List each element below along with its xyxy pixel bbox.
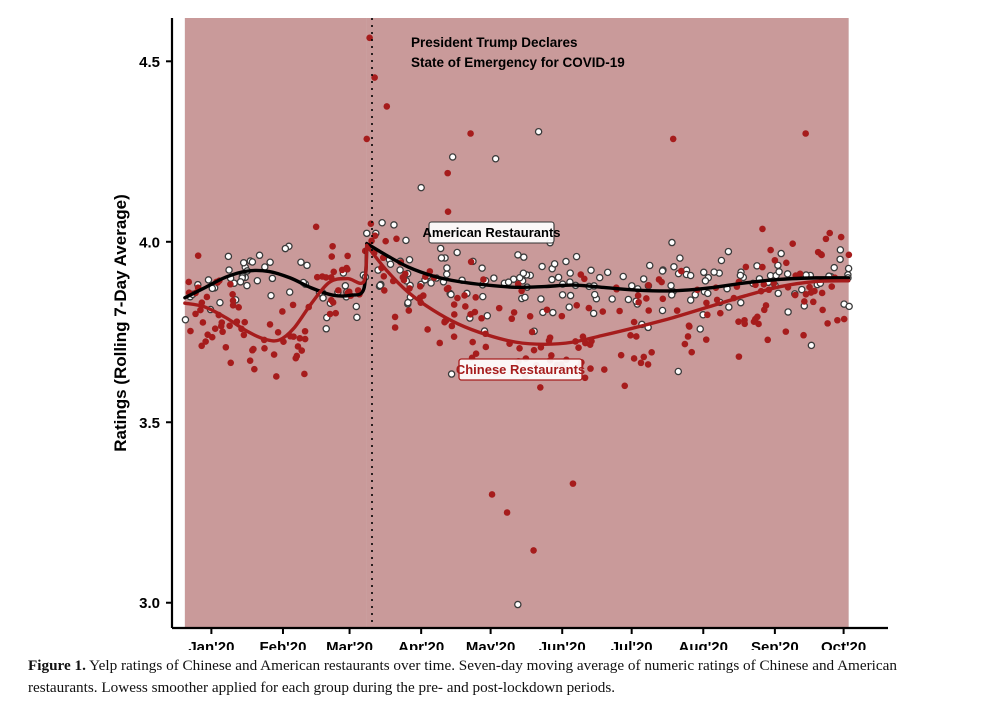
american-data-point (323, 326, 329, 332)
chinese-data-point (451, 311, 458, 318)
chinese-data-point (633, 333, 640, 340)
chinese-data-point (330, 268, 337, 275)
chinese-data-point (381, 273, 388, 280)
american-data-point (659, 268, 665, 274)
chinese-data-point (227, 281, 234, 288)
american-series-label: American Restaurants (423, 222, 561, 243)
american-data-point (364, 230, 370, 236)
chinese-data-point (575, 344, 582, 351)
american-data-point (522, 294, 528, 300)
x-tick-label: Aug'20 (679, 639, 728, 650)
american-data-point (647, 262, 653, 268)
american-data-point (448, 291, 454, 297)
chinese-data-point (828, 283, 835, 290)
chinese-data-point (759, 264, 766, 271)
american-data-point (659, 307, 665, 313)
american-data-point (256, 252, 262, 258)
american-data-point (269, 275, 275, 281)
figure-container: 3.03.54.04.5 Jan'20Feb'20Mar'20Apr'20May… (0, 0, 986, 719)
chinese-data-point (200, 319, 207, 326)
american-data-point (785, 309, 791, 315)
american-data-point (226, 267, 232, 273)
american-data-point (668, 283, 674, 289)
chinese-data-point (472, 294, 479, 301)
chinese-data-point (751, 318, 758, 325)
american-data-point (726, 304, 732, 310)
american-data-point (775, 290, 781, 296)
chinese-data-point (335, 287, 342, 294)
chinese-data-point (230, 297, 237, 304)
chinese-data-point (616, 308, 623, 315)
american-data-point (552, 261, 558, 267)
chinese-data-point (656, 276, 663, 283)
chinese-data-point (504, 509, 511, 516)
chinese-data-point (601, 366, 608, 373)
chinese-data-point (406, 307, 413, 314)
american-data-point (304, 262, 310, 268)
american-data-point (391, 222, 397, 228)
american-data-point (776, 269, 782, 275)
american-data-point (675, 368, 681, 374)
american-data-point (405, 300, 411, 306)
american-data-point (254, 278, 260, 284)
chinese-data-point (648, 349, 655, 356)
american-data-point (671, 264, 677, 270)
american-data-point (737, 272, 743, 278)
chinese-data-point (581, 275, 588, 282)
american-data-point (287, 289, 293, 295)
american-data-point (406, 257, 412, 263)
chinese-data-point (478, 315, 485, 322)
american-data-point (397, 267, 403, 273)
american-data-point (597, 275, 603, 281)
american-data-point (605, 269, 611, 275)
chinese-data-point (674, 307, 681, 314)
chinese-data-point (783, 260, 790, 267)
chinese-data-point (187, 328, 194, 335)
x-tick-label: Jul'20 (611, 639, 653, 650)
american-data-point (535, 129, 541, 135)
chinese-data-point (640, 354, 647, 361)
american-data-point (754, 263, 760, 269)
chinese-data-point (392, 314, 399, 321)
y-axis-ticks: 3.03.54.04.5 (139, 54, 172, 612)
chinese-data-point (800, 332, 807, 339)
chinese-data-point (548, 352, 555, 359)
chinese-label-text: Chinese Restaurants (456, 362, 585, 377)
x-tick-label: Jan'20 (188, 639, 234, 650)
chinese-data-point (267, 321, 274, 328)
chinese-data-point (508, 315, 515, 322)
chinese-data-point (247, 357, 254, 364)
american-data-point (550, 309, 556, 315)
chinese-data-point (802, 130, 809, 137)
american-data-point (249, 259, 255, 265)
chinese-data-point (294, 353, 301, 360)
chinese-data-point (736, 353, 743, 360)
american-data-point (711, 269, 717, 275)
american-data-point (846, 303, 852, 309)
confidence-bands (185, 0, 849, 650)
american-data-point (444, 271, 450, 277)
chart-canvas: 3.03.54.04.5 Jan'20Feb'20Mar'20Apr'20May… (0, 0, 986, 650)
chinese-data-point (537, 384, 544, 391)
american-data-point (428, 280, 434, 286)
chinese-data-point (381, 287, 388, 294)
y-axis-title: Ratings (Rolling 7-Day Average) (111, 194, 130, 452)
chinese-data-point (678, 268, 685, 275)
chinese-data-point (483, 344, 490, 351)
american-data-point (480, 294, 486, 300)
chinese-data-point (319, 273, 326, 280)
american-data-point (449, 371, 455, 377)
american-data-point (725, 248, 731, 254)
chinese-data-point (451, 301, 458, 308)
chinese-data-point (841, 316, 848, 323)
american-data-point (592, 292, 598, 298)
chinese-data-point (621, 382, 628, 389)
american-data-point (505, 279, 511, 285)
american-data-point (718, 257, 724, 263)
american-data-point (539, 263, 545, 269)
chinese-data-point (797, 270, 804, 277)
chinese-data-point (763, 302, 770, 309)
american-data-point (217, 300, 223, 306)
american-data-point (591, 310, 597, 316)
chinese-data-point (824, 320, 831, 327)
chinese-data-point (462, 303, 469, 310)
american-data-point (225, 253, 231, 259)
chinese-data-point (529, 329, 536, 336)
chinese-data-point (392, 324, 399, 331)
chinese-data-point (792, 292, 799, 299)
chinese-data-point (424, 326, 431, 333)
american-data-point (566, 304, 572, 310)
american-data-point (702, 278, 708, 284)
american-data-point (620, 273, 626, 279)
chinese-data-point (250, 346, 257, 353)
american-data-point (563, 258, 569, 264)
chinese-data-point (789, 240, 796, 247)
chinese-data-point (717, 310, 724, 317)
chinese-data-point (635, 292, 642, 299)
figure-caption: Figure 1. Yelp ratings of Chinese and Am… (28, 655, 958, 699)
chinese-data-point (204, 331, 211, 338)
chinese-data-point (527, 313, 534, 320)
american-data-point (549, 276, 555, 282)
chinese-data-point (298, 347, 305, 354)
chinese-data-point (480, 276, 487, 283)
american-data-point (609, 296, 615, 302)
chinese-data-point (643, 295, 650, 302)
chinese-data-point (823, 236, 830, 243)
confidence-band (185, 0, 367, 650)
chinese-data-point (384, 103, 391, 110)
x-axis-ticks: Jan'20Feb'20Mar'20Apr'20May'20Jun'20Jul'… (188, 628, 866, 650)
american-data-point (418, 185, 424, 191)
american-data-point (688, 272, 694, 278)
chinese-data-point (461, 292, 468, 299)
american-data-point (244, 282, 250, 288)
x-tick-label: Feb'20 (260, 639, 307, 650)
american-data-point (493, 156, 499, 162)
caption-body: Yelp ratings of Chinese and American res… (28, 657, 897, 696)
confidence-band (367, 0, 849, 650)
american-data-point (298, 259, 304, 265)
american-data-point (237, 279, 243, 285)
american-data-point (379, 220, 385, 226)
chinese-data-point (764, 337, 771, 344)
chinese-data-point (818, 252, 825, 259)
chinese-data-point (530, 547, 537, 554)
american-label-text: American Restaurants (423, 225, 561, 240)
chinese-data-point (735, 318, 742, 325)
chinese-data-point (631, 319, 638, 326)
chinese-data-point (516, 345, 523, 352)
american-data-point (241, 260, 247, 266)
american-data-point (831, 265, 837, 271)
chinese-data-point (235, 304, 242, 311)
chinese-data-point (218, 323, 225, 330)
x-tick-label: Apr'20 (398, 639, 444, 650)
chinese-data-point (660, 296, 667, 303)
chinese-data-point (783, 328, 790, 335)
american-data-point (573, 254, 579, 260)
chinese-data-point (420, 292, 427, 299)
chinese-data-point (290, 302, 297, 309)
event-annotation-line2: State of Emergency for COVID-19 (411, 55, 625, 70)
chinese-data-point (301, 371, 308, 378)
american-data-point (701, 269, 707, 275)
chinese-data-point (599, 308, 606, 315)
american-data-point (688, 297, 694, 303)
caption-label: Figure 1. (28, 657, 86, 674)
american-data-point (267, 259, 273, 265)
american-data-point (567, 270, 573, 276)
chinese-data-point (759, 226, 766, 233)
chinese-data-point (467, 130, 474, 137)
event-annotation-line1: President Trump Declares (411, 35, 578, 50)
chinese-data-point (313, 223, 320, 230)
ratings-scatter-chart: 3.03.54.04.5 Jan'20Feb'20Mar'20Apr'20May… (0, 0, 986, 650)
x-tick-label: May'20 (466, 639, 515, 650)
chinese-data-point (686, 322, 693, 329)
chinese-data-point (195, 252, 202, 259)
chinese-data-point (511, 309, 518, 316)
chinese-data-point (645, 361, 652, 368)
chinese-data-point (185, 279, 192, 286)
american-data-point (491, 275, 497, 281)
american-data-point (205, 277, 211, 283)
chinese-data-point (826, 230, 833, 237)
chinese-data-point (547, 334, 554, 341)
chinese-data-point (467, 311, 474, 318)
y-tick-label: 4.0 (139, 234, 160, 251)
chinese-data-point (682, 341, 689, 348)
american-data-point (738, 300, 744, 306)
chinese-data-point (587, 341, 594, 348)
x-tick-label: Jun'20 (539, 639, 586, 650)
chinese-data-point (290, 333, 297, 340)
chinese-data-point (400, 274, 407, 281)
american-data-point (377, 282, 383, 288)
chinese-data-point (445, 285, 452, 292)
american-data-point (785, 271, 791, 277)
chinese-data-point (363, 136, 370, 143)
chinese-data-point (573, 302, 580, 309)
chinese-data-point (273, 373, 280, 380)
chinese-data-point (635, 299, 642, 306)
american-data-point (538, 296, 544, 302)
american-data-point (559, 292, 565, 298)
american-data-point (515, 601, 521, 607)
chinese-data-point (198, 343, 205, 350)
y-tick-label: 4.5 (139, 54, 160, 71)
chinese-data-point (229, 291, 236, 298)
chinese-data-point (192, 311, 199, 318)
y-tick-label: 3.5 (139, 415, 160, 432)
chinese-data-point (302, 336, 309, 343)
american-data-point (697, 326, 703, 332)
x-tick-label: Oct'20 (821, 639, 866, 650)
chinese-data-point (445, 208, 452, 215)
chinese-data-point (631, 355, 638, 362)
chinese-data-point (743, 264, 750, 271)
chinese-data-point (570, 480, 577, 487)
chinese-data-point (417, 283, 424, 290)
american-data-point (778, 250, 784, 256)
chinese-data-point (645, 282, 652, 289)
chinese-data-point (279, 308, 286, 315)
american-data-point (846, 265, 852, 271)
chinese-data-point (454, 295, 461, 302)
chinese-data-point (212, 325, 219, 332)
american-data-point (588, 267, 594, 273)
chinese-data-point (344, 253, 351, 260)
chinese-data-point (261, 345, 268, 352)
chinese-data-point (704, 312, 711, 319)
chinese-data-point (302, 328, 309, 335)
american-data-point (625, 296, 631, 302)
american-data-point (669, 239, 675, 245)
american-data-point (454, 249, 460, 255)
chinese-data-point (808, 289, 815, 296)
chinese-data-point (531, 347, 538, 354)
american-data-point (808, 342, 814, 348)
x-tick-label: Mar'20 (326, 639, 373, 650)
american-data-point (450, 154, 456, 160)
american-data-point (479, 265, 485, 271)
american-data-point (353, 303, 359, 309)
chinese-data-point (645, 307, 652, 314)
chinese-data-point (741, 321, 748, 328)
chinese-data-point (586, 305, 593, 312)
chinese-data-point (393, 235, 400, 242)
chinese-data-point (204, 294, 211, 301)
chinese-data-point (382, 238, 389, 245)
chinese-data-point (275, 329, 282, 336)
chinese-data-point (329, 243, 336, 250)
american-data-point (669, 292, 675, 298)
chinese-data-point (444, 170, 451, 177)
american-data-point (282, 245, 288, 251)
american-data-point (268, 293, 274, 299)
chinese-data-point (819, 290, 826, 297)
american-data-point (438, 245, 444, 251)
chinese-data-point (328, 253, 335, 260)
x-tick-label: Sep'20 (751, 639, 799, 650)
american-data-point (837, 256, 843, 262)
american-data-point (555, 274, 561, 280)
chinese-data-point (627, 332, 634, 339)
chinese-data-point (227, 359, 234, 366)
chinese-data-point (469, 339, 476, 346)
chinese-data-point (801, 298, 808, 305)
chinese-data-point (251, 366, 258, 373)
chinese-data-point (810, 299, 817, 306)
chinese-data-point (670, 136, 677, 143)
chinese-data-point (559, 313, 566, 320)
chinese-data-point (846, 252, 853, 259)
y-tick-label: 3.0 (139, 595, 160, 612)
chinese-data-point (332, 310, 339, 317)
chinese-data-point (819, 307, 826, 314)
chinese-data-point (468, 258, 475, 265)
chinese-series-label: Chinese Restaurants (456, 359, 585, 380)
chinese-data-point (327, 311, 334, 318)
chinese-data-point (328, 297, 335, 304)
american-data-point (387, 261, 393, 267)
chinese-data-point (587, 365, 594, 372)
chinese-data-point (618, 352, 625, 359)
chinese-data-point (688, 349, 695, 356)
chinese-data-point (834, 317, 841, 324)
chinese-data-point (772, 257, 779, 264)
chinese-data-point (838, 234, 845, 241)
american-data-point (444, 265, 450, 271)
american-data-point (342, 283, 348, 289)
chinese-data-point (241, 319, 248, 326)
american-data-point (641, 276, 647, 282)
american-data-point (515, 252, 521, 258)
american-data-point (438, 255, 444, 261)
american-data-point (837, 247, 843, 253)
chinese-data-point (368, 220, 375, 227)
chinese-data-point (767, 247, 774, 254)
chinese-data-point (703, 336, 710, 343)
american-data-point (484, 313, 490, 319)
american-data-point (403, 237, 409, 243)
chinese-data-point (223, 344, 230, 351)
american-data-point (182, 317, 188, 323)
american-data-point (677, 255, 683, 261)
american-data-point (568, 292, 574, 298)
chinese-data-point (344, 266, 351, 273)
chinese-data-point (685, 333, 692, 340)
american-data-point (354, 314, 360, 320)
american-data-point (520, 270, 526, 276)
chinese-data-point (271, 351, 278, 358)
chinese-data-point (219, 328, 226, 335)
chinese-data-point (544, 306, 551, 313)
american-data-point (705, 290, 711, 296)
chinese-data-point (489, 491, 496, 498)
chinese-data-point (638, 360, 645, 367)
chinese-data-point (496, 305, 503, 312)
chinese-data-point (436, 340, 443, 347)
chinese-data-point (451, 333, 458, 340)
